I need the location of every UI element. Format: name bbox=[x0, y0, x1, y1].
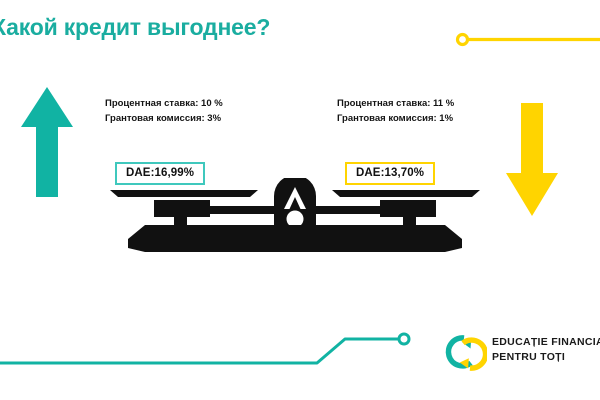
arrow-down-icon bbox=[506, 103, 558, 216]
connector-dot bbox=[399, 334, 409, 344]
left-option-details: Процентная ставка: 10 % Грантовая комисс… bbox=[105, 96, 223, 126]
left-grant-fee: Грантовая комиссия: 3% bbox=[105, 111, 223, 126]
slide-canvas: Какой кредит выгоднее? Процентная ставка… bbox=[0, 0, 600, 400]
connector-path bbox=[0, 339, 398, 363]
logo-text-line1: EDUCAȚIE FINANCIA bbox=[492, 335, 600, 350]
logo-text-line2: PENTRU TOȚI bbox=[492, 350, 600, 365]
arrow-down-shape bbox=[506, 103, 558, 216]
arrow-up-shape bbox=[21, 87, 73, 197]
scale-base-bottom bbox=[128, 239, 462, 252]
left-interest-rate: Процентная ставка: 10 % bbox=[105, 96, 223, 111]
logo-text: EDUCAȚIE FINANCIA PENTRU TOȚI bbox=[492, 335, 600, 365]
connector-dot bbox=[458, 35, 468, 45]
right-pan-plate bbox=[332, 190, 480, 197]
right-interest-rate: Процентная ставка: 11 % bbox=[337, 96, 454, 111]
arrow-up-icon bbox=[21, 87, 73, 197]
page-title: Какой кредит выгоднее? bbox=[0, 14, 270, 41]
top-right-connector-decoration bbox=[455, 30, 600, 50]
scale-base-top bbox=[128, 225, 462, 239]
bottom-connector-decoration bbox=[0, 328, 420, 374]
circular-arrows-logo-icon bbox=[441, 332, 487, 374]
right-grant-fee: Грантовая комиссия: 1% bbox=[337, 111, 454, 126]
left-pan-plate bbox=[110, 190, 258, 197]
brand-logo: EDUCAȚIE FINANCIA PENTRU TOȚI bbox=[441, 330, 600, 376]
balance-scale-illustration bbox=[110, 178, 480, 258]
scale-pivot bbox=[287, 211, 304, 228]
right-option-details: Процентная ставка: 11 % Грантовая комисс… bbox=[337, 96, 454, 126]
